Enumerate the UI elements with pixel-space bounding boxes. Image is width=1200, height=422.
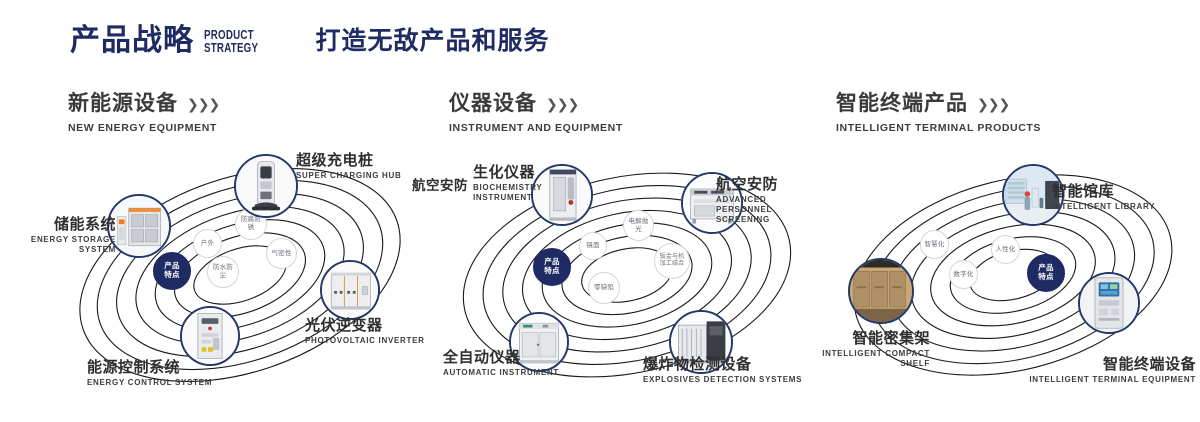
super-charging-hub-photo [236,156,296,216]
label-en: SUPER CHARGING HUB [296,171,402,181]
label-cn: 智能馆库 [1052,183,1155,200]
label-en: PHOTOVOLTAIC INVERTER [305,336,425,346]
section-subtitle-intelligent: INTELLIGENT TERMINAL PRODUCTS [836,122,1041,134]
label-cn: 航空安防 [716,176,822,193]
node-intelligent-compact-shelf[interactable] [848,258,914,324]
feature-bubble-outdoor: 户外 [193,229,222,258]
feature-bubble-electropolish-text: 电解抛光 [626,218,651,233]
chevrons-right-icon: ❯❯❯ [187,97,219,111]
section-title-new-energy: 新能源设备 ❯❯❯ [68,93,219,114]
page-header: 产品战略 PRODUCT STRATEGY 打造无敌产品和服务 [70,26,550,56]
section-head-intelligent: 智能终端产品 ❯❯❯ INTELLIGENT TERMINAL PRODUCTS [836,93,1041,134]
feature-bubble-waterproof-text: 防水防尘 [210,264,236,279]
section-subtitle-new-energy: NEW ENERGY EQUIPMENT [68,122,219,134]
label-cn: 储能系统 [4,216,116,233]
core-bubble-line2: 特点 [544,267,559,276]
page-subtitle: 打造无敌产品和服务 [316,29,550,54]
label-super-charging-hub: 超级充电桩 SUPER CHARGING HUB [296,152,402,181]
label-cn: 能源控制系统 [87,359,212,376]
feature-bubble-sheetmetal-machining: 钣金与机加工结合 [654,243,690,279]
label-cn: 超级充电桩 [296,152,402,169]
label-en: ADVANCED PERSONNEL SCREENING [716,195,822,225]
label-en: BIOCHEMISTRY INSTRUMENT [473,183,547,203]
page-title-en: PRODUCT STRATEGY [204,29,258,55]
label-photovoltaic-inverter: 光伏逆变器 PHOTOVOLTAIC INVERTER [305,317,425,346]
label-explosives-detection-systems: 爆炸物检测设备 EXPLOSIVES DETECTION SYSTEMS [643,356,802,385]
feature-bubble-intelligentization: 智慧化 [920,230,949,259]
label-cn: 爆炸物检测设备 [643,356,802,373]
feature-bubble-electropolish: 电解抛光 [623,210,654,241]
node-super-charging-hub[interactable] [234,154,298,218]
label-en: INTELLIGENT TERMINAL EQUIPMENT [1000,375,1196,385]
label-cn: 全自动仪器 [443,349,559,366]
core-bubble-new-energy: 产品 特点 [153,252,191,290]
section-title-instrument: 仪器设备 ❯❯❯ [449,93,623,114]
feature-bubble-digitalization: 数字化 [949,260,978,289]
energy-storage-system-photo [109,196,169,256]
core-bubble-line2: 特点 [1038,273,1053,282]
feature-bubble-humanization: 人性化 [991,235,1020,264]
label-en: EXPLOSIVES DETECTION SYSTEMS [643,375,802,385]
label-cn: 光伏逆变器 [305,317,425,334]
label-cn: 航空安防 [396,178,468,194]
chevrons-right-icon: ❯❯❯ [977,97,1009,111]
label-cn: 智能密集架 [800,330,930,347]
photovoltaic-inverter-photo [322,262,378,318]
feature-bubble-mirror: 镜面 [579,232,607,260]
core-bubble-line2: 特点 [164,271,179,280]
label-cn: 智能终端设备 [1000,356,1196,373]
intelligent-terminal-equipment-photo [1080,274,1138,332]
section-title-text: 智能终端产品 [836,93,968,114]
label-intelligent-terminal-equipment: 智能终端设备 INTELLIGENT TERMINAL EQUIPMENT [1000,356,1196,385]
label-automatic-instrument: 全自动仪器 AUTOMATIC INSTRUMENT [443,349,559,378]
label-energy-storage-system: 储能系统 ENERGY STORAGE SYSTEM [4,216,116,255]
label-intelligent-library: 智能馆库 INTELLIGENT LIBRARY [1052,183,1155,212]
feature-bubble-waterproof: 防水防尘 [207,256,239,288]
page-title-en-line1: PRODUCT [204,29,258,42]
label-biochemistry-instrument: 生化仪器 BIOCHEMISTRY INSTRUMENT [473,164,547,203]
section-head-new-energy: 新能源设备 ❯❯❯ NEW ENERGY EQUIPMENT [68,93,219,134]
label-intelligent-compact-shelf: 智能密集架 INTELLIGENT COMPACT SHELF [800,330,930,369]
section-title-text: 仪器设备 [449,93,537,114]
label-en: INTELLIGENT LIBRARY [1052,202,1155,212]
energy-control-system-photo [182,308,238,364]
label-en: AUTOMATIC INSTRUMENT [443,368,559,378]
feature-bubble-anticorrosion-text: 防腐防锈 [238,216,264,231]
node-intelligent-terminal-equipment[interactable] [1078,272,1140,334]
section-title-text: 新能源设备 [68,93,178,114]
section-title-intelligent: 智能终端产品 ❯❯❯ [836,93,1041,114]
chevrons-right-icon: ❯❯❯ [546,97,578,111]
node-energy-storage-system[interactable] [107,194,171,258]
intelligent-compact-shelf-photo [850,260,912,322]
core-bubble-instrument: 产品 特点 [533,248,571,286]
section-head-instrument: 仪器设备 ❯❯❯ INSTRUMENT AND EQUIPMENT [449,93,623,134]
feature-bubble-airtight: 气密性 [266,238,297,269]
label-aviation-security-left: 航空安防 [396,178,468,194]
core-bubble-intelligent: 产品 特点 [1027,254,1065,292]
label-cn: 生化仪器 [473,164,547,181]
node-energy-control-system[interactable] [180,306,240,366]
product-strategy-infographic: 产品战略 PRODUCT STRATEGY 打造无敌产品和服务 新能源设备 ❯❯… [0,0,1200,422]
label-en: ENERGY CONTROL SYSTEM [87,378,212,388]
label-advanced-personnel-screening: 航空安防 ADVANCED PERSONNEL SCREENING [716,176,822,225]
page-title-en-line2: STRATEGY [204,42,258,55]
label-en: ENERGY STORAGE SYSTEM [4,235,116,255]
label-en: INTELLIGENT COMPACT SHELF [800,349,930,369]
page-title: 产品战略 [70,26,194,56]
label-energy-control-system: 能源控制系统 ENERGY CONTROL SYSTEM [87,359,212,388]
feature-bubble-zero-defect: 零缺陷 [588,272,620,304]
section-subtitle-instrument: INSTRUMENT AND EQUIPMENT [449,122,623,134]
node-photovoltaic-inverter[interactable] [320,260,380,320]
feature-bubble-sheetmetal-text: 钣金与机加工结合 [657,254,687,268]
